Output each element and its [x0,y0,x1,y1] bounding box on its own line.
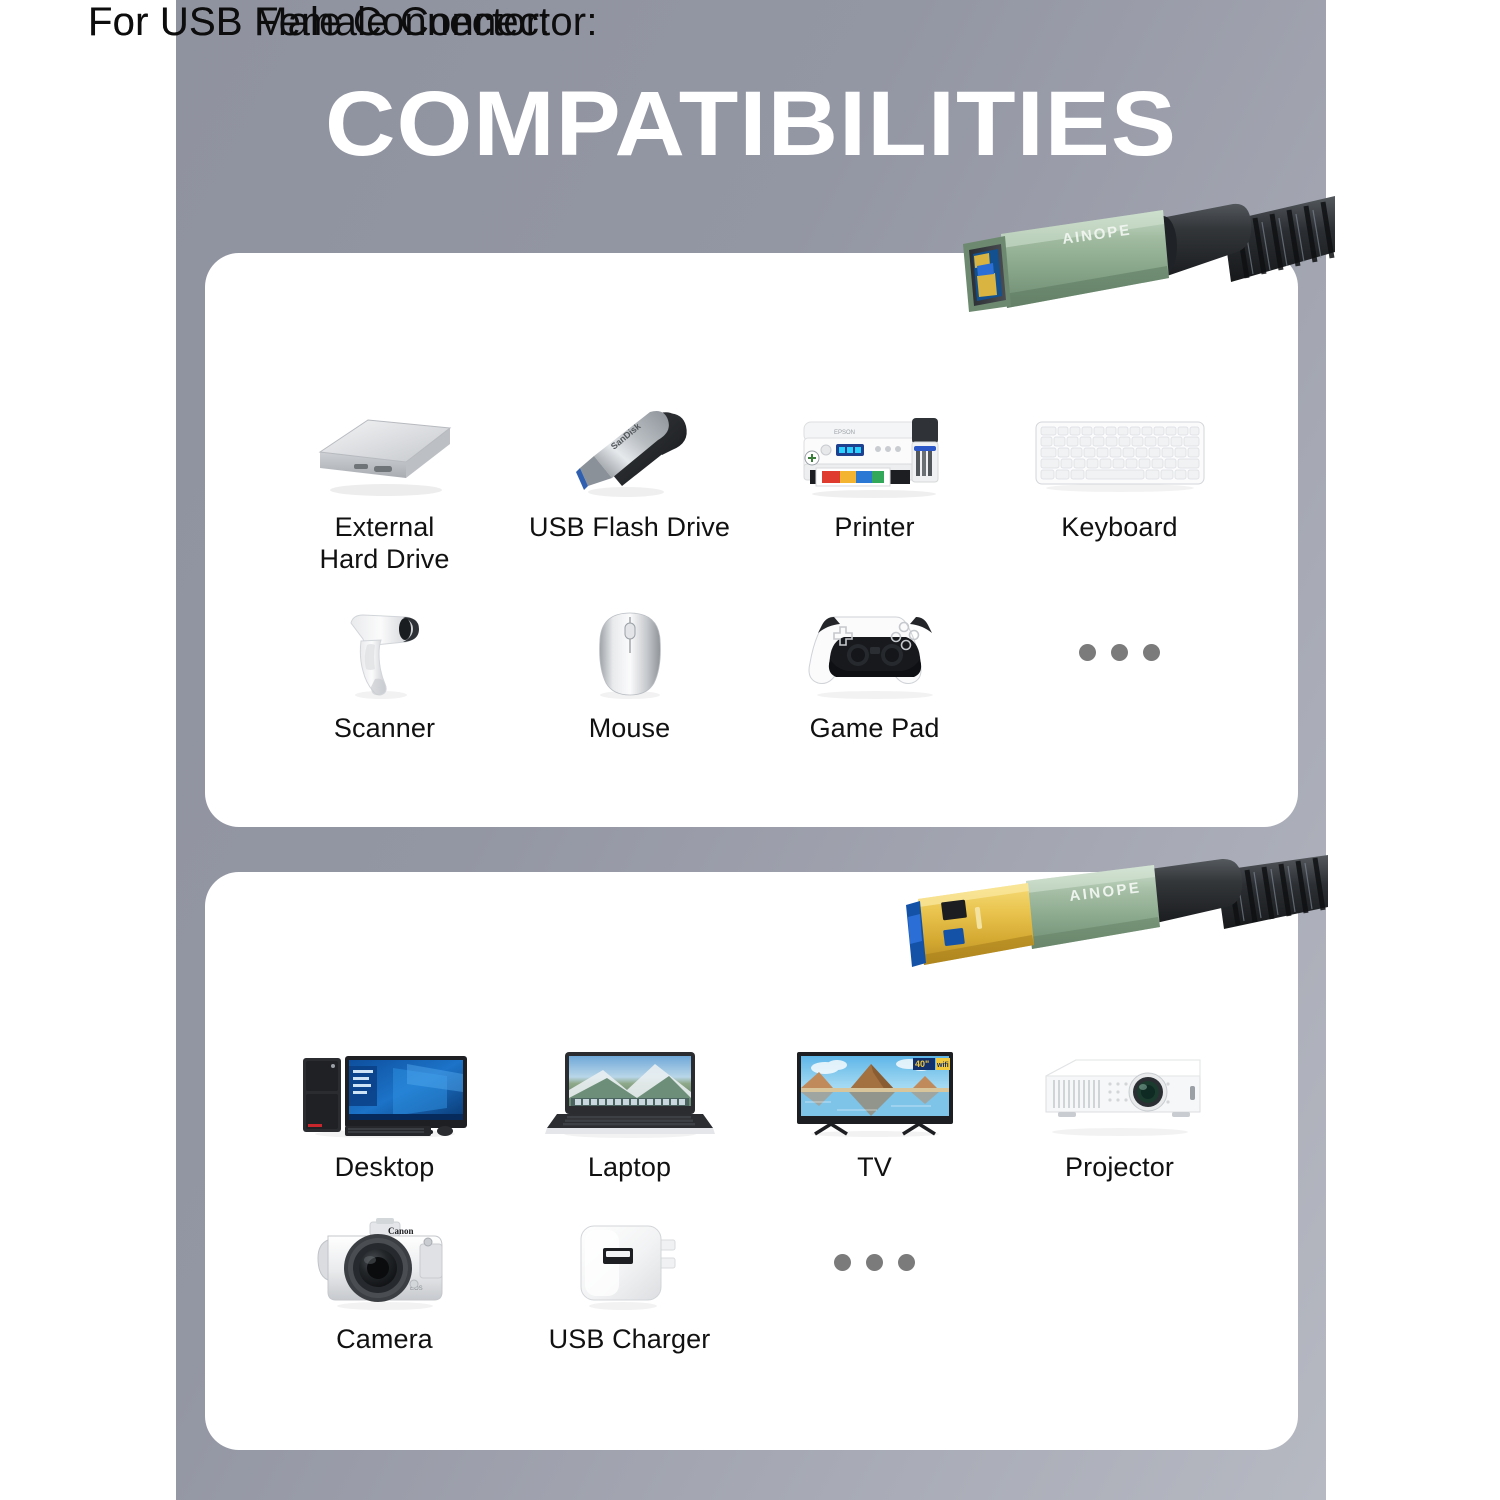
usb-male-connector: AINOPE [898,855,1328,1040]
device-more-male [752,1216,997,1356]
usb-female-connector: AINOPE [955,196,1335,391]
device-row: Desktop [205,1044,1298,1184]
device-label: Camera [336,1324,433,1356]
device-label: Printer [834,512,914,544]
usb-flash-drive-icon: SanDisk [564,404,696,498]
tv-wifi-badge: wifi [936,1062,949,1069]
device-camera[interactable]: Canon EOS Camera [262,1216,507,1356]
device-usb-flash-drive[interactable]: SanDisk USB Flash Drive [507,404,752,575]
device-grid-male: Desktop [205,1044,1298,1355]
tv-size-badge: 40" [915,1059,929,1069]
device-row: Scanner [205,605,1298,745]
device-label: Game Pad [810,713,940,745]
page-title: COMPATIBILITIES [142,78,1361,170]
device-scanner[interactable]: Scanner [262,605,507,745]
mouse-icon [575,605,685,699]
game-pad-icon [800,605,950,699]
device-usb-charger[interactable]: USB Charger [507,1216,752,1356]
device-more-female [997,605,1242,745]
device-label: Projector [1065,1152,1174,1184]
tv-icon: 40" wifi [791,1044,959,1138]
device-external-hard-drive[interactable]: External Hard Drive [262,404,507,575]
device-mouse[interactable]: Mouse [507,605,752,745]
barcode-scanner-icon [325,605,445,699]
ellipsis-icon [834,1216,915,1310]
device-desktop[interactable]: Desktop [262,1044,507,1184]
camera-icon: Canon EOS [310,1216,460,1310]
device-label: External Hard Drive [319,512,449,575]
device-row: Canon EOS Camera [205,1216,1298,1356]
usb-charger-icon [565,1216,695,1310]
printer-icon: EPSON [792,404,957,498]
device-tv[interactable]: 40" wifi TV [752,1044,997,1184]
device-keyboard[interactable]: Keyboard [997,404,1242,575]
device-label: TV [857,1152,892,1184]
device-laptop[interactable]: Laptop [507,1044,752,1184]
ellipsis-icon [1079,605,1160,699]
keyboard-icon [1030,404,1210,498]
device-row: External Hard Drive [205,404,1298,575]
card-male-heading: For USB Male Connector: [88,0,551,45]
device-grid-female: External Hard Drive [205,404,1298,745]
svg-text:Canon: Canon [388,1226,414,1236]
device-label: Mouse [589,713,671,745]
device-projector[interactable]: Projector [997,1044,1242,1184]
device-label: Desktop [335,1152,435,1184]
device-label: Laptop [588,1152,671,1184]
infographic-canvas: COMPATIBILITIES For USB Female Connector… [0,0,1500,1500]
svg-text:EPSON: EPSON [834,430,855,436]
device-printer[interactable]: EPSON Printer [752,404,997,575]
external-hard-drive-icon [310,404,460,498]
device-label: USB Flash Drive [529,512,730,544]
laptop-icon [545,1044,715,1138]
device-label: Keyboard [1061,512,1177,544]
device-label: Scanner [334,713,435,745]
device-game-pad[interactable]: Game Pad [752,605,997,745]
projector-icon [1032,1044,1207,1138]
desktop-computer-icon [297,1044,472,1138]
device-label: USB Charger [549,1324,711,1356]
